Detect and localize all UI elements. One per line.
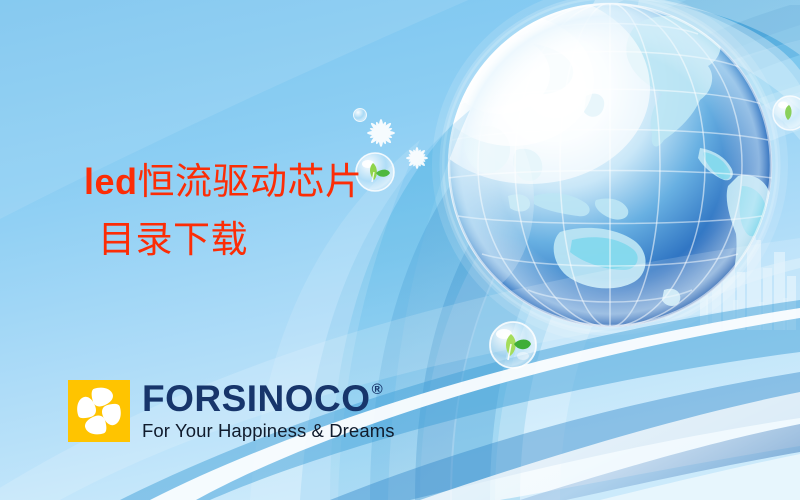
headline-line-1: led恒流驱动芯片 [84, 162, 363, 202]
page-title: led恒流驱动芯片 目录下载 [84, 162, 363, 260]
headline-line-2: 目录下载 [84, 220, 363, 260]
bubble-leaf-lower [490, 322, 536, 368]
registered-trademark-icon: ® [372, 382, 384, 397]
starburst-small [406, 147, 428, 169]
promo-banner: led恒流驱动芯片 目录下载 FORSINOCO® For Your Happ [0, 0, 800, 500]
bubble-tiny-upper [354, 109, 367, 122]
logo-wordmark-text: FORSINOCO [142, 380, 371, 417]
starburst-large [367, 119, 395, 147]
logo-wordmark: FORSINOCO® [142, 380, 383, 417]
bubble-small-right [773, 96, 800, 130]
pinwheel-petals [68, 380, 130, 442]
four-petal-pinwheel-icon [68, 380, 130, 442]
company-logo: FORSINOCO® For Your Happiness & Dreams [68, 380, 395, 442]
logo-text-block: FORSINOCO® For Your Happiness & Dreams [142, 380, 395, 441]
bubble-headline-overlap [376, 176, 380, 180]
headline-cjk-text: 恒流驱动芯片 [138, 160, 363, 203]
logo-tagline: For Your Happiness & Dreams [142, 422, 395, 441]
headline-latin-text: led [84, 161, 138, 202]
